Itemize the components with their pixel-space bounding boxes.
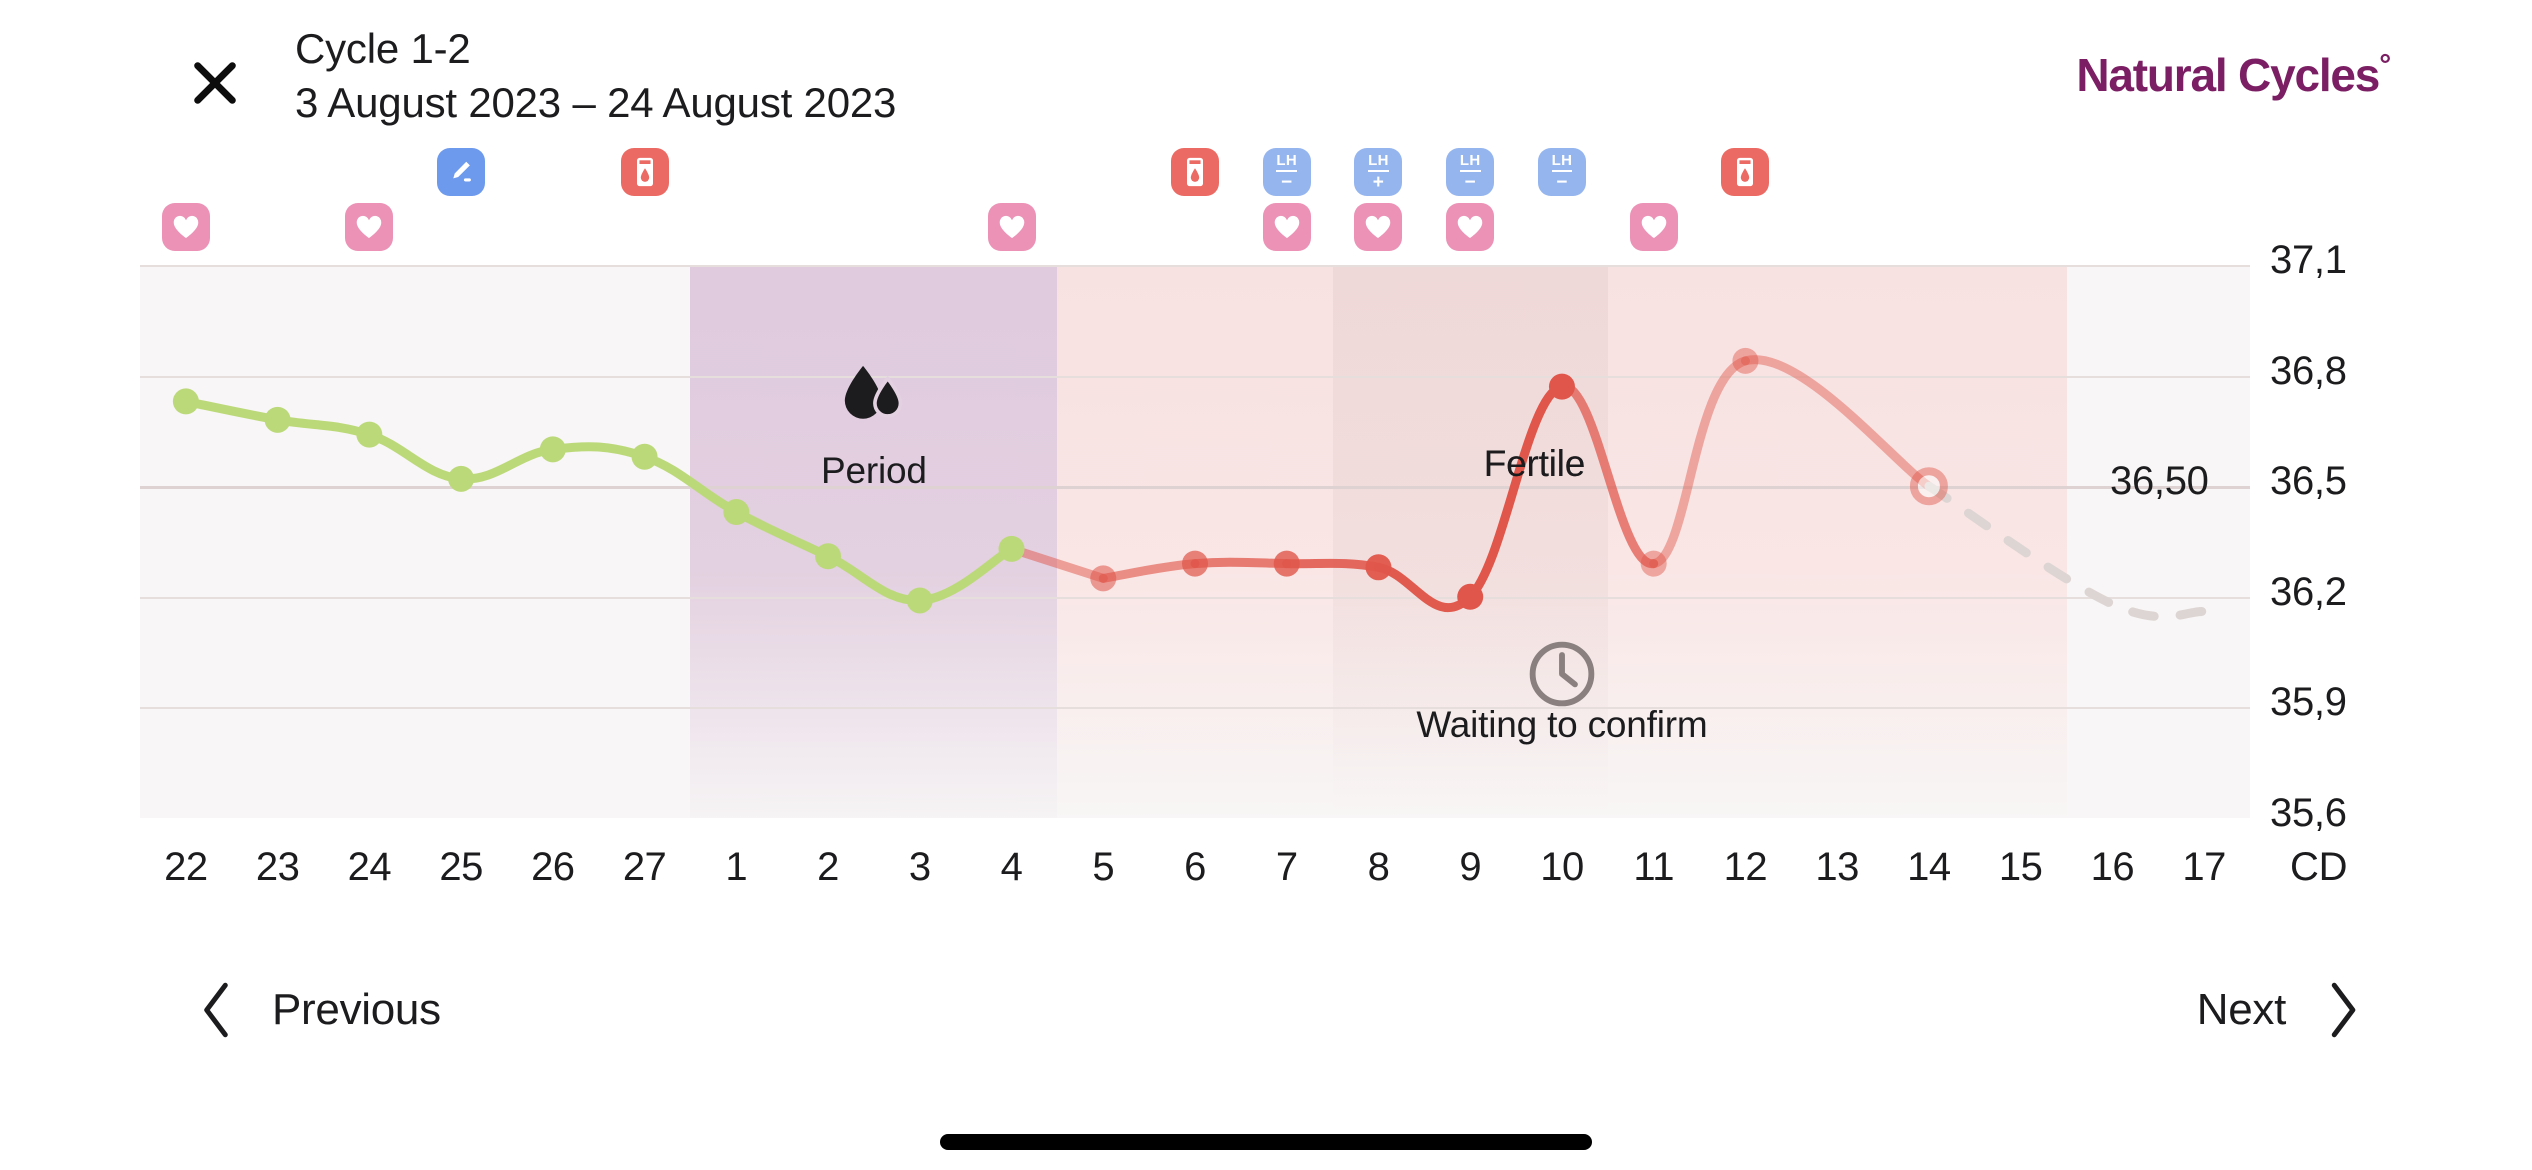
data-point[interactable] — [173, 388, 199, 414]
x-axis-tick: 26 — [508, 845, 598, 890]
y-axis-tick: 37,1 — [2270, 238, 2347, 283]
reference-temperature-label: 36,50 — [2110, 459, 2209, 504]
temperature-chart: PeriodFertileWaiting to confirmFertile — [140, 265, 2250, 818]
x-axis-tick: 4 — [967, 845, 1057, 890]
sex-badge[interactable] — [1446, 203, 1494, 251]
sex-icon — [1364, 214, 1392, 240]
next-cycle-button[interactable]: Next — [2197, 955, 2362, 1065]
x-axis-tick: 5 — [1058, 845, 1148, 890]
sex-icon — [998, 214, 1026, 240]
chart-points — [140, 265, 2250, 818]
y-axis-tick: 35,6 — [2270, 791, 2347, 836]
data-point[interactable] — [1365, 554, 1391, 580]
data-point[interactable] — [1274, 551, 1300, 577]
sex-icon — [1640, 214, 1668, 240]
data-point[interactable] — [1182, 551, 1208, 577]
sex-icon — [172, 214, 200, 240]
data-point[interactable] — [1641, 551, 1667, 577]
x-axis-tick: 9 — [1425, 845, 1515, 890]
blood-drops-icon — [836, 364, 912, 431]
sex-icon — [355, 214, 383, 240]
data-point[interactable] — [1914, 471, 1944, 501]
chevron-right-icon — [2322, 979, 2362, 1041]
data-point[interactable] — [540, 436, 566, 462]
x-axis-tick: 14 — [1884, 845, 1974, 890]
data-point[interactable] — [1457, 584, 1483, 610]
bottom-toolbar: Previous — [0, 955, 2532, 1070]
data-point[interactable] — [356, 422, 382, 448]
x-axis-tick: 11 — [1609, 845, 1699, 890]
sex-badge[interactable] — [1354, 203, 1402, 251]
data-point[interactable] — [723, 499, 749, 525]
plot-area — [140, 265, 2250, 818]
x-axis-tick: 24 — [324, 845, 414, 890]
previous-cycle-button[interactable]: Previous — [196, 955, 441, 1065]
note-badge[interactable] — [437, 148, 485, 196]
waiting-zone-label: Waiting to confirm — [1262, 704, 1862, 746]
sex-badge[interactable] — [988, 203, 1036, 251]
home-indicator — [940, 1134, 1592, 1150]
data-point[interactable] — [815, 543, 841, 569]
lh-badge[interactable]: LH− — [1263, 148, 1311, 196]
previous-label: Previous — [272, 985, 441, 1035]
x-axis-tick: 25 — [416, 845, 506, 890]
fertile-zone-label: Fertile — [1234, 443, 1834, 485]
lh-label: LH− — [1460, 153, 1481, 191]
next-label: Next — [2197, 985, 2286, 1035]
data-point[interactable] — [999, 536, 1025, 562]
x-axis-tick: 10 — [1517, 845, 1607, 890]
data-point[interactable] — [1549, 374, 1575, 400]
test-icon — [1182, 156, 1208, 188]
sex-badge[interactable] — [1630, 203, 1678, 251]
x-axis-tick: 3 — [875, 845, 965, 890]
x-axis-tick: 27 — [600, 845, 690, 890]
y-axis-tick: 36,8 — [2270, 349, 2347, 394]
chevron-left-icon — [196, 979, 236, 1041]
x-axis-tick: 1 — [691, 845, 781, 890]
x-axis-tick: 12 — [1700, 845, 1790, 890]
badge-layer: LH−LH+LH−LH− — [0, 0, 2532, 270]
x-axis-tick: 16 — [2067, 845, 2157, 890]
lh-badge[interactable]: LH− — [1538, 148, 1586, 196]
lh-label: LH− — [1552, 153, 1573, 191]
lh-badge[interactable]: LH+ — [1354, 148, 1402, 196]
x-axis-tick: 13 — [1792, 845, 1882, 890]
test-badge[interactable] — [1171, 148, 1219, 196]
x-axis-tick: 6 — [1150, 845, 1240, 890]
sex-icon — [1456, 214, 1484, 240]
sex-badge[interactable] — [162, 203, 210, 251]
data-point[interactable] — [265, 407, 291, 433]
y-axis-tick: 35,9 — [2270, 680, 2347, 725]
data-point[interactable] — [448, 466, 474, 492]
data-point[interactable] — [907, 587, 933, 613]
test-badge[interactable] — [1721, 148, 1769, 196]
lh-label: LH− — [1276, 153, 1297, 191]
sex-badge[interactable] — [1263, 203, 1311, 251]
x-axis-tick: 17 — [2159, 845, 2249, 890]
sex-icon — [1273, 214, 1301, 240]
cycle-day-axis-label: CD — [2290, 845, 2347, 890]
data-point[interactable] — [1732, 348, 1758, 374]
test-icon — [632, 156, 658, 188]
x-axis-tick: 22 — [141, 845, 231, 890]
sex-badge[interactable] — [345, 203, 393, 251]
x-axis-tick: 23 — [233, 845, 323, 890]
x-axis-tick: 7 — [1242, 845, 1332, 890]
x-axis-tick: 2 — [783, 845, 873, 890]
data-point[interactable] — [1090, 565, 1116, 591]
y-axis-tick: 36,2 — [2270, 570, 2347, 615]
test-badge[interactable] — [621, 148, 669, 196]
lh-label: LH+ — [1368, 153, 1389, 191]
test-icon — [1732, 156, 1758, 188]
period-zone-label: Period — [574, 450, 1174, 492]
x-axis-tick: 15 — [1976, 845, 2066, 890]
x-axis-tick: 8 — [1333, 845, 1423, 890]
x-axis: 2223242526271234567891011121314151617 — [0, 845, 2532, 915]
note-icon — [447, 158, 475, 186]
y-axis-tick: 36,5 — [2270, 459, 2347, 504]
lh-badge[interactable]: LH− — [1446, 148, 1494, 196]
